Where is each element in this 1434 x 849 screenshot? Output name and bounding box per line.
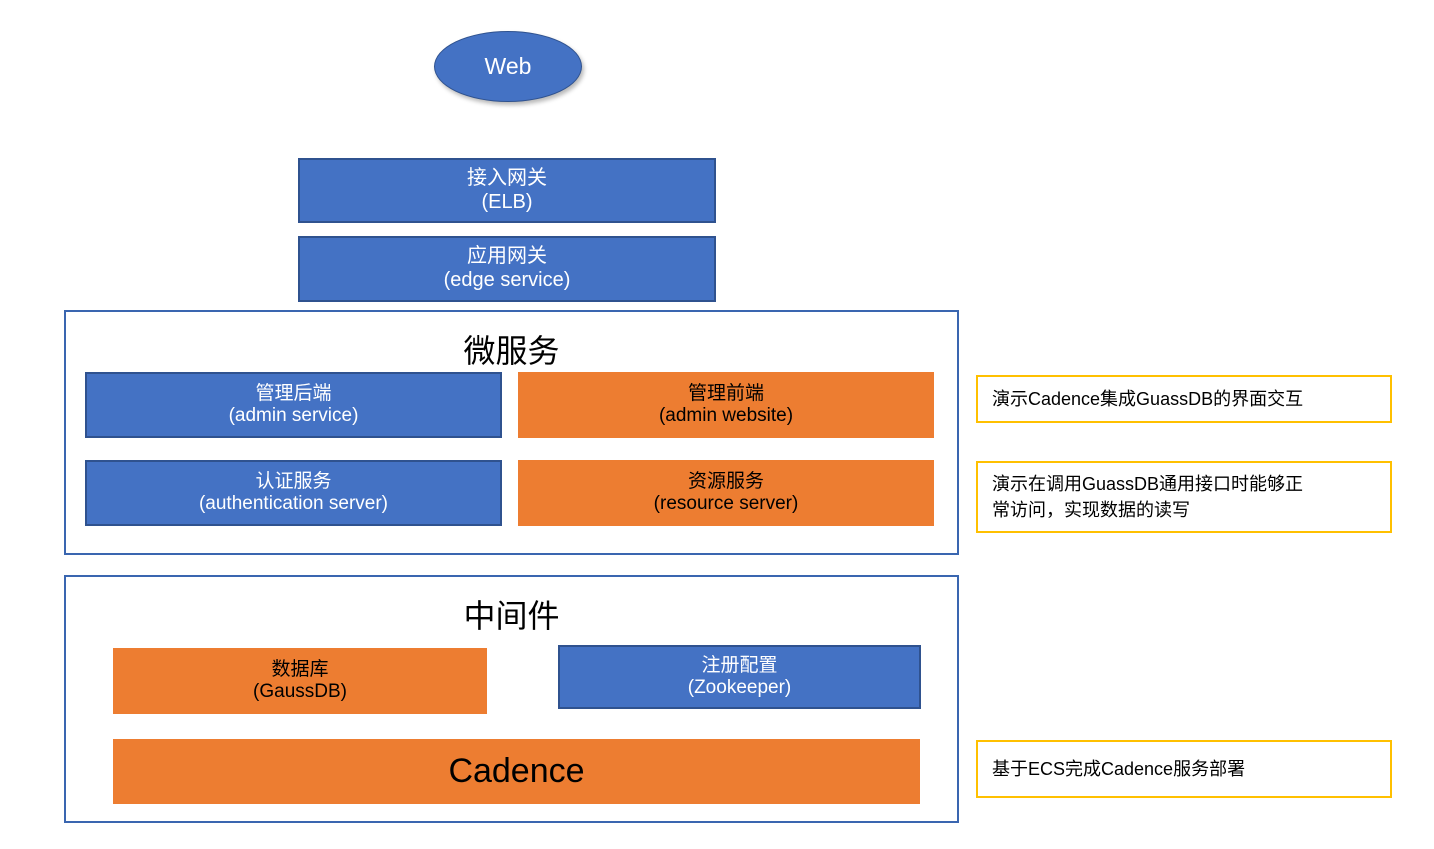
cadence-platform-node: Cadence — [113, 739, 920, 804]
resource-server-label-en: (resource server) — [654, 493, 799, 515]
admin-service-label-en: (admin service) — [229, 405, 359, 427]
annotation-callout-ui-integration: 演示Cadence集成GuassDB的界面交互 — [976, 375, 1392, 423]
annotation-callout-3-line-1: 基于ECS完成Cadence服务部署 — [992, 756, 1376, 782]
access-gateway-label-en: (ELB) — [481, 191, 532, 215]
admin-service-node: 管理后端 (admin service) — [85, 372, 502, 438]
application-gateway-label-cn: 应用网关 — [467, 245, 547, 269]
authentication-server-label-en: (authentication server) — [199, 493, 388, 515]
admin-website-label-en: (admin website) — [659, 405, 793, 427]
resource-server-label-cn: 资源服务 — [688, 471, 764, 493]
resource-server-node: 资源服务 (resource server) — [518, 460, 934, 526]
web-client-label: Web — [485, 53, 532, 80]
middleware-group-title: 中间件 — [66, 591, 957, 637]
admin-website-node: 管理前端 (admin website) — [518, 372, 934, 438]
annotation-callout-1-line-1: 演示Cadence集成GuassDB的界面交互 — [992, 386, 1376, 412]
access-gateway-label-cn: 接入网关 — [467, 167, 547, 191]
database-node: 数据库 (GaussDB) — [113, 648, 487, 714]
annotation-callout-ecs-deployment: 基于ECS完成Cadence服务部署 — [976, 740, 1392, 798]
architecture-diagram: Web 接入网关 (ELB) 应用网关 (edge service) 微服务 管… — [0, 0, 1434, 849]
annotation-callout-2-line-2: 常访问，实现数据的读写 — [992, 497, 1376, 523]
admin-website-label-cn: 管理前端 — [688, 383, 764, 405]
authentication-server-node: 认证服务 (authentication server) — [85, 460, 502, 526]
application-gateway-label-en: (edge service) — [444, 269, 571, 293]
web-client-node: Web — [434, 31, 582, 102]
annotation-callout-2-line-1: 演示在调用GuassDB通用接口时能够正 — [992, 471, 1376, 497]
registry-config-label-cn: 注册配置 — [701, 655, 777, 677]
access-gateway-node: 接入网关 (ELB) — [298, 158, 716, 223]
admin-service-label-cn: 管理后端 — [255, 383, 331, 405]
cadence-platform-label: Cadence — [448, 751, 584, 791]
registry-config-label-en: (Zookeeper) — [688, 677, 792, 699]
authentication-server-label-cn: 认证服务 — [255, 471, 331, 493]
application-gateway-node: 应用网关 (edge service) — [298, 236, 716, 302]
database-label-cn: 数据库 — [271, 659, 328, 681]
registry-config-node: 注册配置 (Zookeeper) — [558, 645, 921, 709]
database-label-en: (GaussDB) — [253, 681, 347, 703]
microservice-group-title: 微服务 — [66, 326, 957, 372]
annotation-callout-api-access: 演示在调用GuassDB通用接口时能够正 常访问，实现数据的读写 — [976, 461, 1392, 533]
